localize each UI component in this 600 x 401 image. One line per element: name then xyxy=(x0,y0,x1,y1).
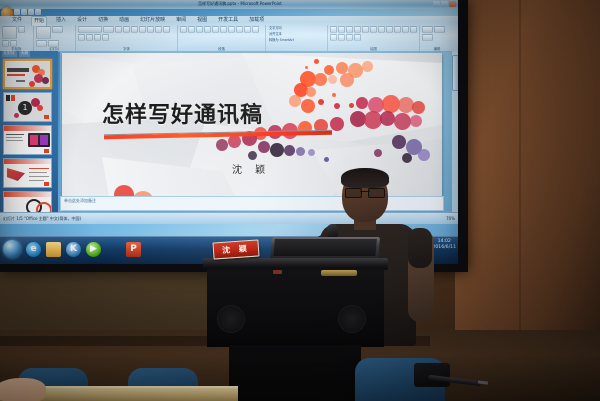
thumbnail-list[interactable]: 1 xyxy=(3,59,55,224)
tab-home[interactable]: 开始 xyxy=(31,16,47,26)
ribbon-group-clipboard: 剪贴板 xyxy=(0,25,34,51)
ribbon-group-editing: 编辑 xyxy=(420,25,454,51)
powerpoint-icon[interactable]: P xyxy=(126,242,141,257)
arrange-icon[interactable] xyxy=(354,34,361,41)
ribbon-group-slides: 幻灯片 xyxy=(34,25,76,51)
scrollbar-thumb[interactable] xyxy=(452,55,458,91)
increase-indent-icon[interactable] xyxy=(204,26,211,33)
shape-pentagon-icon[interactable] xyxy=(386,26,393,33)
align-center-icon[interactable] xyxy=(228,26,235,33)
quick-styles-icon[interactable] xyxy=(346,34,353,41)
slide-title: 怎样写好通讯稿 xyxy=(102,97,263,129)
thumbnail-slide-4[interactable] xyxy=(3,158,52,188)
ribbon-group-paragraph-extra: 文字方向 对齐文本 转换为 SmartArt xyxy=(266,25,328,51)
shape-effects-icon[interactable] xyxy=(338,34,345,41)
shape-arrow-icon[interactable] xyxy=(346,26,353,33)
shadow-icon[interactable] xyxy=(163,26,170,33)
decrease-indent-icon[interactable] xyxy=(196,26,203,33)
ribbon-tabs[interactable]: 文件 开始 插入 设计 切换 动画 幻灯片放映 审阅 视图 开发工具 加载项 xyxy=(10,16,266,25)
numbering-icon[interactable] xyxy=(188,26,195,33)
presenter-sleeve xyxy=(408,228,432,268)
tab-developer[interactable]: 开发工具 xyxy=(216,16,240,25)
shape-oval-icon[interactable] xyxy=(362,26,369,33)
window-title: 怎样写好通讯稿.pptx - Microsoft PowerPoint xyxy=(170,0,310,8)
vertical-scrollbar[interactable] xyxy=(452,51,458,223)
lectern-speaker-right xyxy=(338,305,366,333)
columns-icon[interactable] xyxy=(252,26,259,33)
shape-rounded-icon[interactable] xyxy=(354,26,361,33)
ribbon-group-drawing: 绘图 xyxy=(328,25,420,51)
replace-icon[interactable] xyxy=(434,26,445,33)
photo-scene: 怎样写好通讯稿.pptx - Microsoft PowerPoint xyxy=(0,0,600,401)
close-button[interactable] xyxy=(449,1,456,7)
clock-date: 2016/6/11 xyxy=(432,245,456,251)
thumbnail-slide-3[interactable] xyxy=(3,125,52,155)
group-label-drawing: 绘图 xyxy=(328,46,419,51)
tab-animations[interactable]: 动画 xyxy=(117,16,131,25)
desk-nameplate: 沈 颖 xyxy=(212,239,259,259)
italic-icon[interactable] xyxy=(147,26,154,33)
bold-icon[interactable] xyxy=(139,26,146,33)
audience-hand xyxy=(0,378,46,401)
ribbon-group-paragraph: 段落 xyxy=(178,25,266,51)
align-text-label[interactable]: 对齐文本 xyxy=(268,32,294,37)
wall-seam xyxy=(519,0,521,330)
print-icon[interactable] xyxy=(35,9,41,15)
new-slide-icon[interactable] xyxy=(36,26,51,39)
convert-smartart-label[interactable]: 转换为 SmartArt xyxy=(268,38,294,43)
char-spacing-icon[interactable] xyxy=(86,34,93,41)
thumbnail-slide-2[interactable]: 1 xyxy=(3,92,52,122)
status-bar-zoom[interactable]: 70% xyxy=(446,213,455,224)
font-color-icon[interactable] xyxy=(102,34,109,41)
windows-start-orb-icon[interactable] xyxy=(3,240,21,258)
shape-rect-icon[interactable] xyxy=(330,26,337,33)
underline-icon[interactable] xyxy=(155,26,162,33)
laptop-screen xyxy=(273,239,376,256)
shape-star-icon[interactable] xyxy=(394,26,401,33)
lectern-control-panel xyxy=(321,270,357,276)
redo-icon[interactable] xyxy=(28,9,34,15)
shape-diamond-icon[interactable] xyxy=(378,26,385,33)
tab-slides[interactable]: 幻灯片 xyxy=(2,50,17,57)
line-spacing-icon[interactable] xyxy=(212,26,219,33)
nameplate-text: 沈 颖 xyxy=(222,243,250,256)
font-size-combo[interactable] xyxy=(103,26,114,33)
minimize-button[interactable] xyxy=(433,1,440,7)
tab-addins[interactable]: 加载项 xyxy=(247,16,266,25)
tab-review[interactable]: 审阅 xyxy=(174,16,188,25)
save-icon[interactable] xyxy=(14,9,20,15)
lectern-speaker-left xyxy=(217,305,245,333)
ribbon: 文件 开始 插入 设计 切换 动画 幻灯片放映 审阅 视图 开发工具 加载项 xyxy=(0,16,458,52)
change-case-icon[interactable] xyxy=(94,34,101,41)
bullets-icon[interactable] xyxy=(180,26,187,33)
shape-triangle-icon[interactable] xyxy=(370,26,377,33)
align-left-icon[interactable] xyxy=(220,26,227,33)
strikethrough-icon[interactable] xyxy=(78,34,85,41)
quick-access-toolbar[interactable] xyxy=(14,8,41,15)
folder-icon[interactable] xyxy=(46,242,61,257)
find-icon[interactable] xyxy=(422,26,433,33)
tab-file[interactable]: 文件 xyxy=(10,16,24,25)
undo-icon[interactable] xyxy=(21,9,27,15)
justify-icon[interactable] xyxy=(244,26,251,33)
shape-outline-icon[interactable] xyxy=(330,34,337,41)
group-label-editing: 编辑 xyxy=(420,46,454,51)
tab-transitions[interactable]: 切换 xyxy=(96,16,110,25)
layout-icon[interactable] xyxy=(52,26,63,33)
eyeglasses-icon xyxy=(345,188,385,196)
clear-format-icon[interactable] xyxy=(131,26,138,33)
room-wall-right xyxy=(455,0,600,330)
thumbnail-slide-1[interactable] xyxy=(3,59,52,89)
shape-line-icon[interactable] xyxy=(338,26,345,33)
ribbon-groups: 剪贴板 幻灯片 xyxy=(0,25,458,51)
tab-slideshow[interactable]: 幻灯片放映 xyxy=(138,16,167,25)
window-titlebar: 怎样写好通讯稿.pptx - Microsoft PowerPoint xyxy=(0,0,458,9)
group-label-font: 字体 xyxy=(76,46,177,51)
lectern-knob xyxy=(273,270,282,274)
status-bar-left: 幻灯片 1/5 "Office 主题" 中文(简体，中国) xyxy=(3,213,81,224)
shape-brace-icon[interactable] xyxy=(402,26,409,33)
shape-fill-icon[interactable] xyxy=(410,26,417,33)
maximize-button[interactable] xyxy=(441,1,448,7)
task-view-icon[interactable] xyxy=(106,242,121,257)
thumb2-number: 1 xyxy=(18,101,32,115)
select-icon[interactable] xyxy=(422,34,433,41)
font-family-combo[interactable] xyxy=(78,26,102,33)
slide-thumbnail-panel[interactable]: 幻灯片 大纲 xyxy=(0,51,58,223)
tab-insert[interactable]: 插入 xyxy=(54,16,68,25)
tab-view[interactable]: 视图 xyxy=(195,16,209,25)
lectern-body xyxy=(207,269,384,347)
window-controls[interactable] xyxy=(433,1,456,7)
paste-icon[interactable] xyxy=(2,26,17,39)
presenter-hair xyxy=(341,168,389,188)
grow-font-icon[interactable] xyxy=(115,26,122,33)
lectern-base xyxy=(229,345,361,401)
slide-author: 沈 颖 xyxy=(232,161,270,176)
taskbar-clock[interactable]: 14:02 2016/6/11 xyxy=(432,239,456,251)
media-player-icon[interactable]: ▶ xyxy=(86,242,101,257)
thumbnail-panel-tabs[interactable]: 幻灯片 大纲 xyxy=(2,50,30,57)
shrink-font-icon[interactable] xyxy=(123,26,130,33)
align-right-icon[interactable] xyxy=(236,26,243,33)
taskbar-pinned-icons[interactable]: e K ▶ P xyxy=(3,240,141,258)
tab-design[interactable]: 设计 xyxy=(75,16,89,25)
group-label-paragraph: 段落 xyxy=(178,46,265,51)
cut-icon[interactable] xyxy=(18,26,25,33)
ribbon-group-font: 字体 xyxy=(76,25,178,51)
text-direction-label[interactable]: 文字方向 xyxy=(268,26,294,31)
internet-explorer-icon[interactable]: e xyxy=(26,242,41,257)
kingsoft-icon[interactable]: K xyxy=(66,242,81,257)
tab-outline[interactable]: 大纲 xyxy=(19,50,30,57)
